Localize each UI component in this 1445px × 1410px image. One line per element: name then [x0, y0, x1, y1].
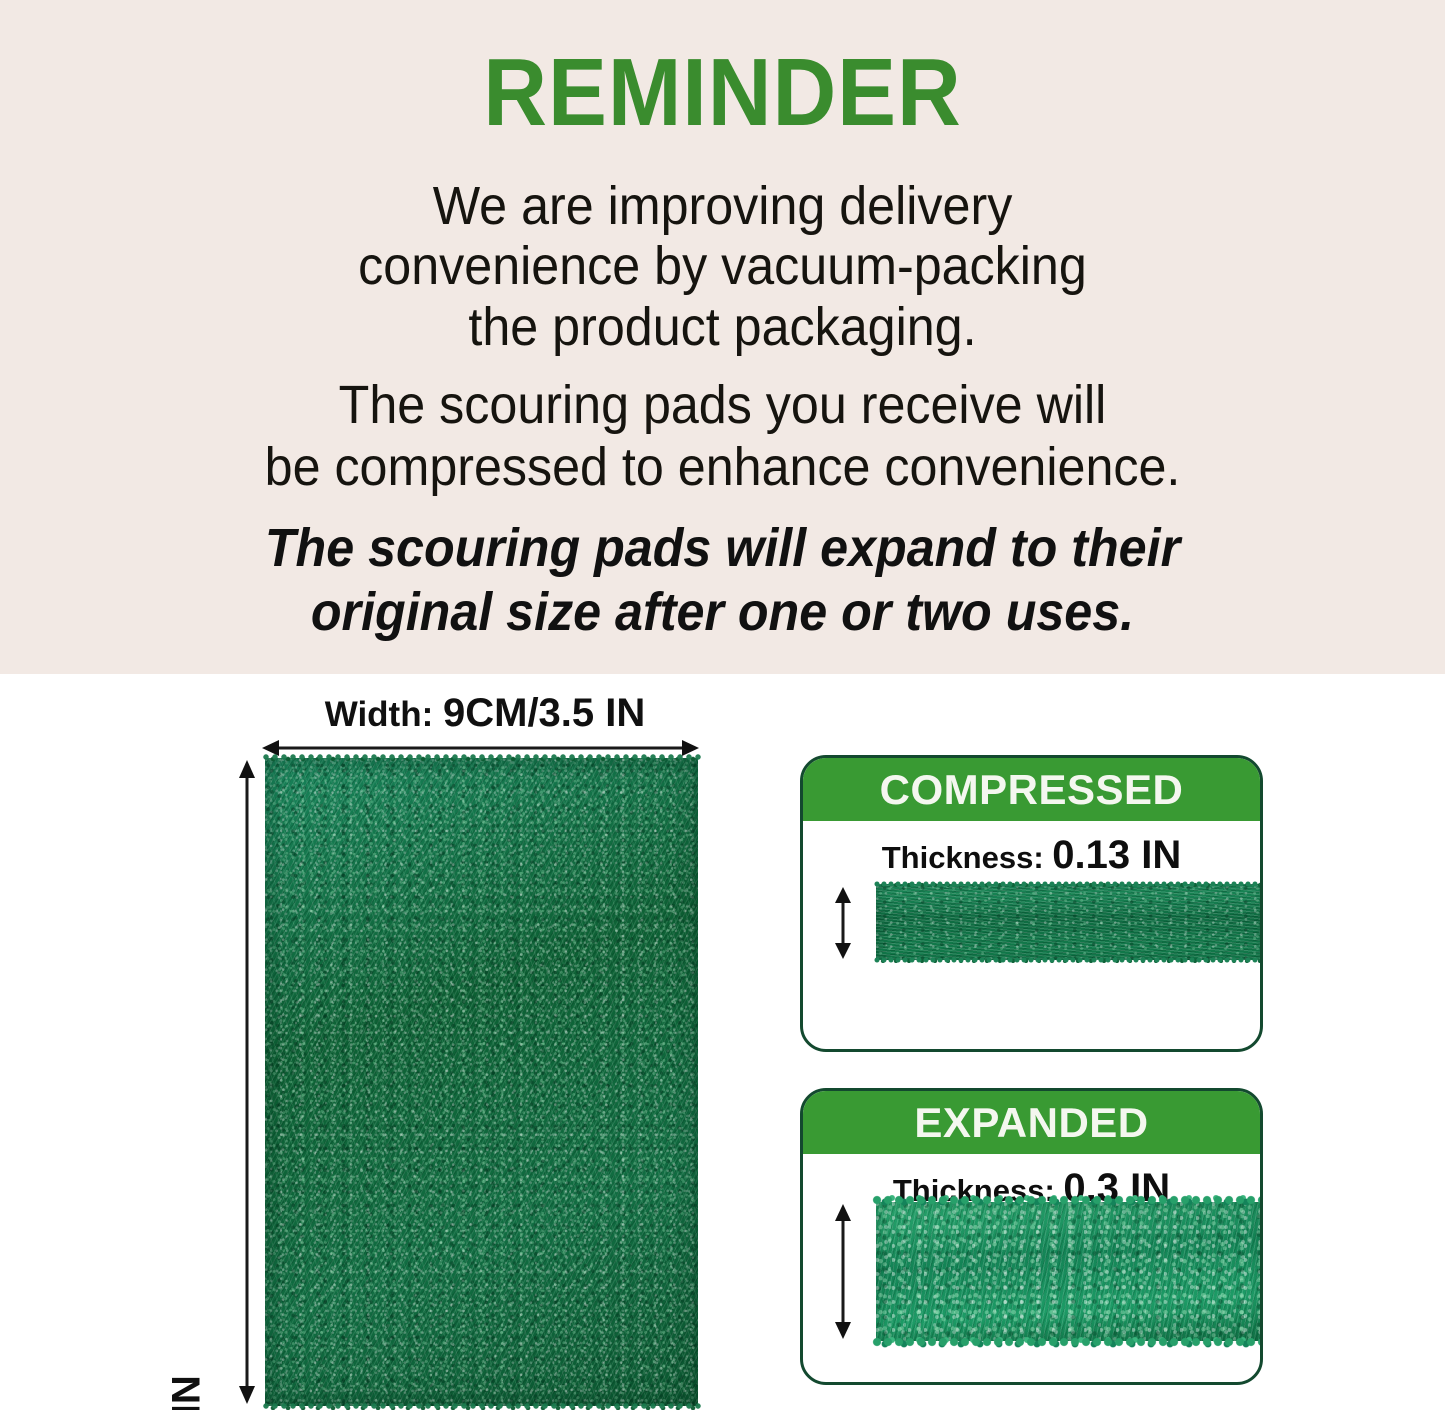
scouring-pad-image: [265, 758, 698, 1406]
product-dimensions-panel: Width: 9CM/3.5 IN Length: 14CM/5.5 IN CO…: [0, 674, 1445, 1410]
paragraph-line: be compressed to enhance convenience.: [51, 437, 1395, 499]
width-dimension-label: Width: 9CM/3.5 IN: [250, 691, 720, 736]
width-value-text: 9CM/3.5 IN: [443, 691, 645, 735]
compressed-thickness-arrow-icon: [833, 887, 853, 959]
paragraph-line: convenience by vacuum-packing: [51, 236, 1395, 296]
paragraph-line: the product packaging.: [51, 297, 1395, 357]
width-label-text: Width:: [325, 695, 434, 734]
paragraph-line: The scouring pads you receive will: [51, 375, 1395, 437]
reminder-panel: REMINDER We are improving delivery conve…: [0, 0, 1445, 674]
expanded-spec-card: EXPANDED Thickness: 0.3 IN: [800, 1088, 1263, 1385]
reminder-paragraph-one: We are improving delivery convenience by…: [51, 176, 1395, 357]
length-value-text: 14CM/5.5 IN: [165, 1375, 209, 1410]
expanded-card-body: Thickness: 0.3 IN: [803, 1154, 1260, 1382]
compressed-thickness-label: Thickness: 0.13 IN: [803, 833, 1260, 878]
thickness-value-text: 0.13 IN: [1052, 833, 1181, 877]
paragraph-line: We are improving delivery: [51, 176, 1395, 236]
length-arrow-icon: [236, 760, 258, 1404]
compressed-pad-image: [876, 884, 1263, 960]
expanded-card-header: EXPANDED: [803, 1091, 1260, 1154]
page-title: REMINDER: [58, 44, 1387, 142]
thickness-label-text: Thickness:: [882, 840, 1044, 875]
reminder-paragraph-three: The scouring pads will expand to their o…: [51, 517, 1395, 644]
compressed-card-header: COMPRESSED: [803, 758, 1260, 821]
reminder-paragraph-two: The scouring pads you receive will be co…: [51, 375, 1395, 498]
paragraph-line: The scouring pads will expand to their: [51, 517, 1395, 581]
expanded-pad-image: [876, 1202, 1263, 1341]
product-infographic: REMINDER We are improving delivery conve…: [0, 0, 1445, 1410]
compressed-spec-card: COMPRESSED Thickness: 0.13 IN: [800, 755, 1263, 1052]
compressed-card-body: Thickness: 0.13 IN: [803, 821, 1260, 1049]
expanded-thickness-arrow-icon: [833, 1204, 853, 1339]
paragraph-line: original size after one or two uses.: [51, 581, 1395, 645]
length-dimension-label: Length: 14CM/5.5 IN: [165, 1347, 210, 1410]
